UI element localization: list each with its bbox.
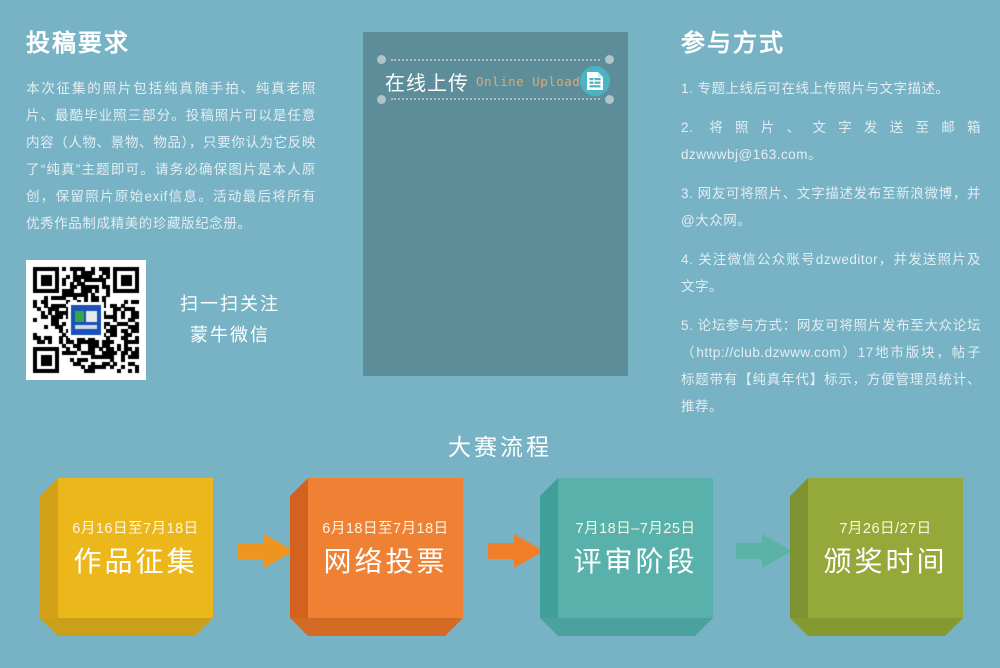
flow-arrow-2	[488, 534, 544, 568]
upload-label-row[interactable]: 在线上传 Online Upload	[385, 66, 610, 96]
flow-step-2-side	[290, 478, 308, 618]
participate-item-1: 1. 专题上线后可在线上传照片与文字描述。	[681, 75, 981, 102]
flow-step-4-side	[790, 478, 808, 618]
flow-step-1-side	[40, 478, 58, 618]
flow-step-3-bottom	[540, 618, 713, 636]
submission-requirements-text: 本次征集的照片包括纯真随手拍、纯真老照片、最酷毕业照三部分。投稿照片可以是任意内…	[26, 75, 316, 237]
flow-step-3-name: 评审阶段	[573, 540, 697, 580]
flow-step-4-face: 7月26日/27日 颁奖时间	[808, 478, 963, 618]
corner-dot-top-right	[605, 55, 614, 64]
flow-step-1[interactable]: 6月16日至7月18日 作品征集	[40, 478, 195, 618]
contest-flow-row: 6月16日至7月18日 作品征集 6月18日至7月18日 网络投票 7月18日–	[0, 478, 1000, 643]
flow-step-3-face: 7月18日–7月25日 评审阶段	[558, 478, 713, 618]
flow-step-2-date: 6月18日至7月18日	[322, 517, 448, 538]
wechat-qr-block: 扫一扫关注 蒙牛微信	[26, 260, 280, 380]
how-to-participate-section: 参与方式 1. 专题上线后可在线上传照片与文字描述。 2. 将照片、文字发送至邮…	[681, 30, 981, 432]
flow-step-2-name: 网络投票	[323, 540, 447, 580]
flow-step-1-face: 6月16日至7月18日 作品征集	[58, 478, 213, 618]
section-title-submission: 投稿要求	[26, 30, 316, 59]
flow-arrow-1	[238, 534, 294, 568]
section-title-participate: 参与方式	[681, 30, 981, 59]
flow-arrow-3-head	[762, 534, 792, 568]
participate-item-3: 3. 网友可将照片、文字描述发布至新浪微博，并@大众网。	[681, 180, 981, 234]
participate-item-2: 2. 将照片、文字发送至邮箱dzwwwbj@163.com。	[681, 114, 981, 168]
participate-item-5: 5. 论坛参与方式：网友可将照片发布至大众论坛（http://club.dzww…	[681, 312, 981, 420]
submission-requirements-section: 投稿要求 本次征集的照片包括纯真随手拍、纯真老照片、最酷毕业照三部分。投稿照片可…	[26, 30, 316, 237]
flow-step-2[interactable]: 6月18日至7月18日 网络投票	[290, 478, 445, 618]
corner-dot-top-left	[377, 55, 386, 64]
qr-code-image	[26, 260, 146, 380]
flow-step-3-side	[540, 478, 558, 618]
flow-step-2-bottom	[290, 618, 463, 636]
poster-canvas: 投稿要求 本次征集的照片包括纯真随手拍、纯真老照片、最酷毕业照三部分。投稿照片可…	[0, 0, 1000, 668]
dotted-divider-top	[391, 59, 600, 61]
flow-step-3-date: 7月18日–7月25日	[576, 517, 696, 538]
flow-step-1-bottom	[40, 618, 213, 636]
participate-item-4: 4. 关注微信公众账号dzweditor，并发送照片及文字。	[681, 246, 981, 300]
upload-title-en: Online Upload	[476, 74, 580, 89]
flow-arrow-3	[736, 534, 792, 568]
dotted-divider-bottom	[391, 98, 600, 100]
flow-step-4-name: 颁奖时间	[823, 540, 947, 580]
flow-step-4-date: 7月26日/27日	[839, 517, 931, 538]
online-upload-panel[interactable]: 在线上传 Online Upload	[363, 32, 628, 376]
qr-caption-line2: 蒙牛微信	[180, 320, 280, 352]
qr-caption: 扫一扫关注 蒙牛微信	[180, 289, 280, 352]
qr-code-icon	[26, 260, 146, 380]
document-upload-icon[interactable]	[580, 66, 610, 96]
corner-dot-bottom-left	[377, 95, 386, 104]
corner-dot-bottom-right	[605, 95, 614, 104]
upload-header: 在线上传 Online Upload	[363, 44, 628, 110]
flow-step-1-name: 作品征集	[73, 540, 197, 580]
upload-title-cn: 在线上传	[385, 67, 469, 96]
flow-step-1-date: 6月16日至7月18日	[72, 517, 198, 538]
flow-section-title: 大赛流程	[0, 428, 1000, 462]
flow-step-4[interactable]: 7月26日/27日 颁奖时间	[790, 478, 945, 618]
flow-step-3[interactable]: 7月18日–7月25日 评审阶段	[540, 478, 695, 618]
qr-caption-line1: 扫一扫关注	[180, 289, 280, 321]
flow-step-4-bottom	[790, 618, 963, 636]
flow-step-2-face: 6月18日至7月18日 网络投票	[308, 478, 463, 618]
